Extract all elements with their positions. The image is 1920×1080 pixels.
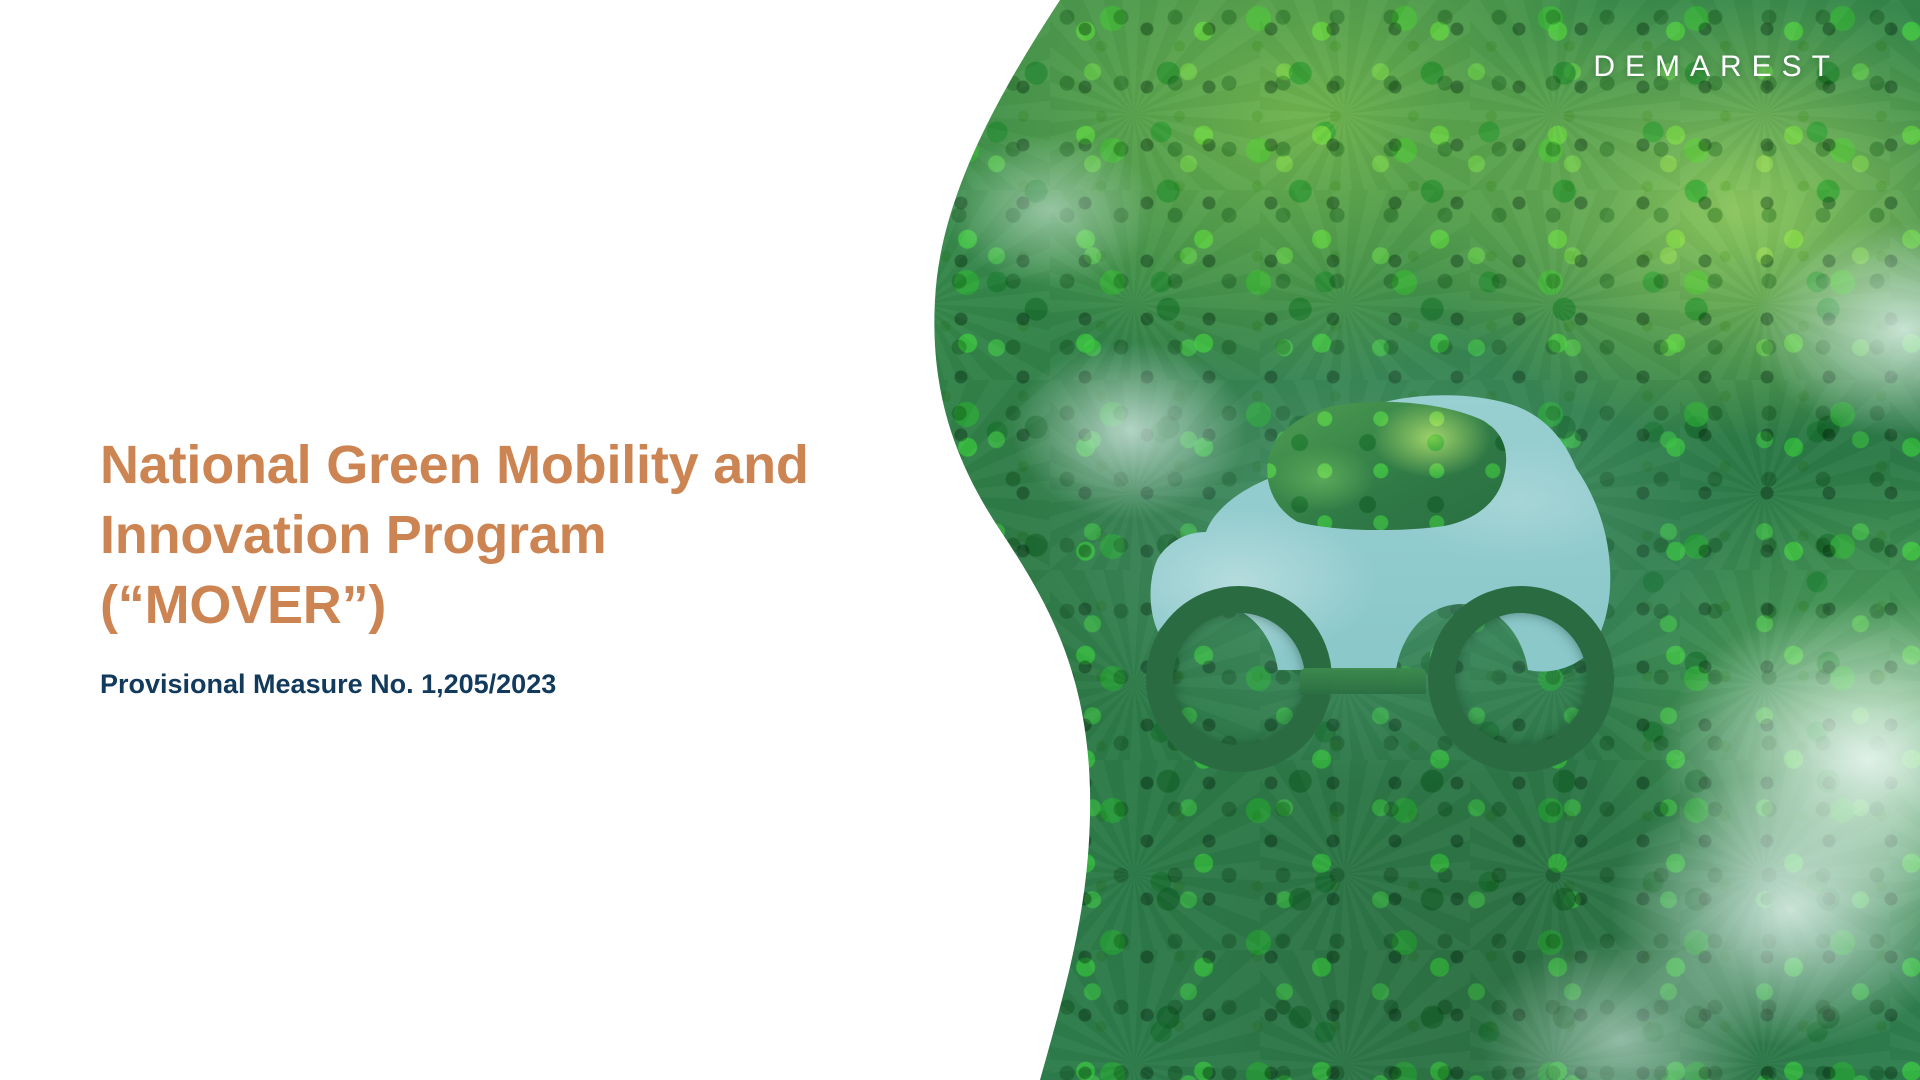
demarest-logo: DEMAREST — [1593, 50, 1840, 84]
page-title: National Green Mobility and Innovation P… — [100, 430, 890, 640]
page-subtitle: Provisional Measure No. 1,205/2023 — [100, 666, 890, 702]
title-text-block: National Green Mobility and Innovation P… — [100, 430, 890, 702]
title-line-3: (“MOVER”) — [100, 570, 890, 640]
title-slide: DEMAREST National Green Mobility and Inn… — [0, 0, 1920, 1080]
title-line-2: Innovation Program — [100, 500, 890, 570]
title-line-1: National Green Mobility and — [100, 430, 890, 500]
